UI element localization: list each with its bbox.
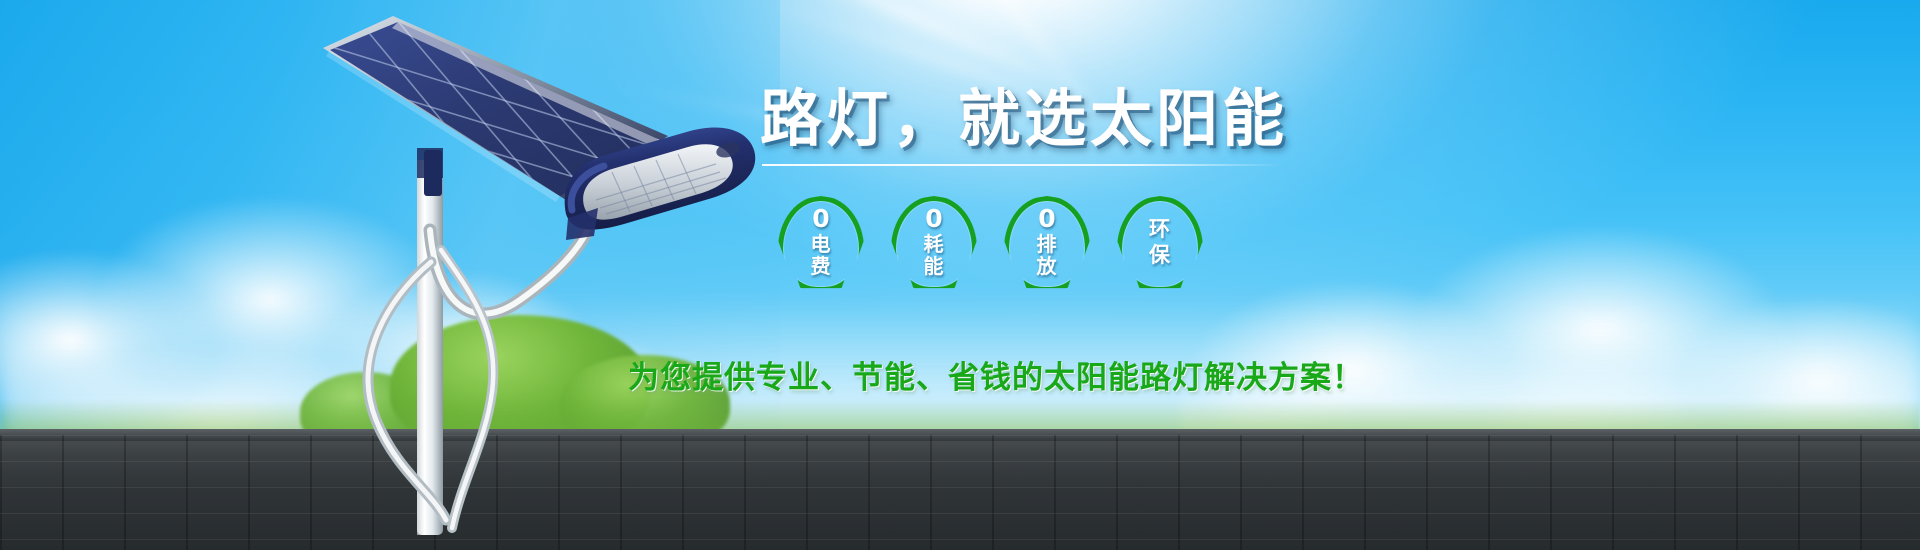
- feature-badge: 0 排 放: [1004, 196, 1090, 292]
- badge-value: 0: [891, 206, 977, 231]
- badge-label: 环 保: [1117, 216, 1203, 269]
- feature-badge: 0 电 费: [778, 196, 864, 292]
- badge-label-line2: 放: [1004, 256, 1090, 278]
- lamp-pole: [417, 148, 443, 535]
- badge-label: 耗 能: [891, 234, 977, 277]
- badge-label-line1: 环: [1117, 216, 1203, 242]
- feature-badge-list: 0 电 费 0 耗 能 0 排 放 环 保: [778, 196, 1198, 296]
- page-title: 路灯，就选太阳能: [760, 88, 1300, 150]
- badge-label-line1: 耗: [891, 234, 977, 256]
- feature-badge: 0 耗 能: [891, 196, 977, 292]
- title-divider: [762, 164, 1282, 166]
- copy-block: 路灯，就选太阳能: [760, 88, 1300, 166]
- badge-value: 0: [778, 206, 864, 231]
- badge-label-line2: 能: [891, 256, 977, 278]
- badge-label: 电 费: [778, 234, 864, 277]
- solar-street-lamp-banner: 路灯，就选太阳能 0 电 费 0 耗 能 0 排 放: [0, 0, 1920, 550]
- tagline: 为您提供专业、节能、省钱的太阳能路灯解决方案！: [628, 352, 1364, 397]
- feature-badge: 环 保: [1117, 196, 1203, 292]
- badge-label-line2: 保: [1117, 242, 1203, 268]
- badge-label-line2: 费: [778, 256, 864, 278]
- badge-label: 排 放: [1004, 234, 1090, 277]
- badge-label-line1: 电: [778, 234, 864, 256]
- panel-mount: [424, 150, 442, 196]
- badge-label-line1: 排: [1004, 234, 1090, 256]
- badge-value: 0: [1004, 206, 1090, 231]
